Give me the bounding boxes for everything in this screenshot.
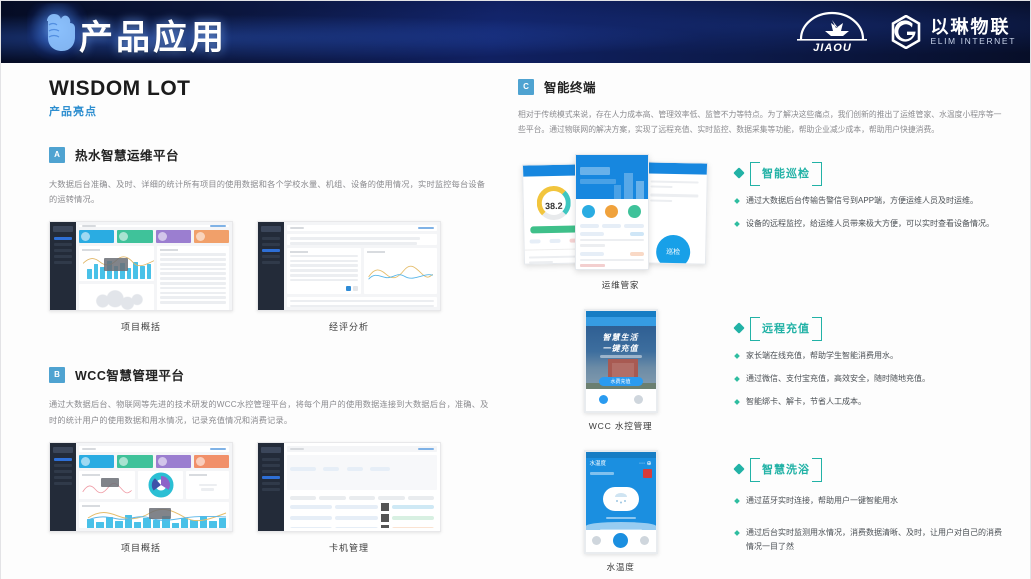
slide-body: WISDOM LOT 产品亮点 A 热水智慧运维平台 大数据后台准确、及时、详细… <box>1 63 1030 579</box>
app-screens-mock: 38.2 <box>523 154 719 272</box>
section-b-header: B WCC智慧管理平台 <box>49 365 492 384</box>
section-a-title: 热水智慧运维平台 <box>75 145 179 164</box>
jiaou-logo-label: JIAOU <box>813 42 852 54</box>
feature-3-bullets: 通过蓝牙实时连接，帮助用户一键智能用水 通过后台实时监测用水情况，消费数据清晰、… <box>735 494 1008 554</box>
section-c-desc: 相对于传统模式来说，存在人力成本高、管理效率低、监管不力等特点。为了解决这些痛点… <box>518 108 1008 138</box>
thumb-project-overview[interactable]: 项目概括 <box>49 221 233 333</box>
shower-head-icon <box>603 487 639 511</box>
feature-1-body: 智能巡检 通过大数据后台传输告警信号到APP端，方便运维人员及时运维。 设备的远… <box>723 154 1008 291</box>
dashboard-overview2-mock <box>49 442 233 532</box>
jiaou-logo: JIAOU <box>793 11 871 54</box>
tab-icon-home[interactable] <box>599 395 608 404</box>
shot-phone-recharge[interactable]: 智慧生活 一键充值 水费充值 WCC 水控管理 <box>518 309 723 432</box>
wisdom-lot-title: WISDOM LOT <box>49 77 492 101</box>
app-screen-inspection: 巡检 <box>639 161 707 264</box>
feature-2-title: 远程充值 <box>750 317 822 339</box>
dash-sidebar <box>258 443 284 531</box>
thumb-analysis[interactable]: 经评分析 <box>257 221 441 333</box>
section-c-title: 智能终端 <box>544 77 596 96</box>
phone-nav-bar <box>586 317 656 326</box>
phone-nav-actions[interactable]: ⋯ ⊕ <box>639 460 652 467</box>
shot-phone-shower[interactable]: 水温度 ⋯ ⊕ <box>518 450 723 573</box>
banner-icon <box>643 469 652 478</box>
diamond-icon <box>733 463 744 474</box>
feature-1-title: 智能巡检 <box>750 162 822 184</box>
bullet-item: 通过大数据后台传输告警信号到APP端，方便运维人员及时运维。 <box>735 194 1008 208</box>
feature-remote-recharge: 智慧生活 一键充值 水费充值 WCC 水控管理 <box>518 309 1008 432</box>
feature-1-bullets: 通过大数据后台传输告警信号到APP端，方便运维人员及时运维。 设备的远程监控，给… <box>735 194 1008 231</box>
inspection-button-mock: 巡检 <box>655 234 690 264</box>
fist-icon <box>27 3 87 63</box>
section-b-title: WCC智慧管理平台 <box>75 365 184 384</box>
phone-recharge-button[interactable]: 水费充值 <box>599 377 643 386</box>
right-column: C 智能终端 相对于传统模式来说，存在人力成本高、管理效率低、监管不力等特点。为… <box>510 77 1030 579</box>
diamond-icon <box>733 322 744 333</box>
section-b-desc: 通过大数据后台、物联网等先进的技术研发的WCC水控管理平台，将每个用户的使用数据… <box>49 397 492 427</box>
phone-tab-bar <box>586 389 656 411</box>
dashboard-table-mock <box>257 442 441 532</box>
phone-shower-mock: 水温度 ⋯ ⊕ <box>584 450 658 554</box>
feature-2-bullets: 家长端在线充值，帮助学生智能消费用水。 通过微信、支付宝充值，高效安全，随时随地… <box>735 349 1008 409</box>
elim-logo-en: ELIM INTERNET <box>930 37 1016 46</box>
dashboard-analysis-mock <box>257 221 441 311</box>
feature-smart-inspection: 38.2 <box>518 154 1008 291</box>
fist-icon-glyph <box>35 7 79 59</box>
tab-icon-mine[interactable] <box>640 536 649 545</box>
shot-caption: 水温度 <box>606 561 634 573</box>
thumb-caption: 经评分析 <box>257 320 441 333</box>
section-a-thumbs: 项目概括 <box>49 221 492 333</box>
tab-icon-mine[interactable] <box>634 395 643 404</box>
dashboard-overview-mock <box>49 221 233 311</box>
feature-smart-shower: 水温度 ⋯ ⊕ <box>518 450 1008 573</box>
thumb-caption: 卡机管理 <box>257 541 441 554</box>
diamond-icon <box>733 167 744 178</box>
shot-app-trio[interactable]: 38.2 <box>518 154 723 291</box>
dash-sidebar <box>50 222 76 310</box>
bullet-item: 设备的远程监控，给运维人员带来极大方便，可以实时查看设备情况。 <box>735 217 1008 231</box>
section-b-badge: B <box>49 367 65 383</box>
bullet-item: 通过蓝牙实时连接，帮助用户一键智能用水 <box>735 494 1008 508</box>
tab-icon-consume[interactable] <box>592 536 601 545</box>
shot-caption: 运维管家 <box>602 279 640 291</box>
dash-sidebar <box>258 222 284 310</box>
thumb-caption: 项目概括 <box>49 541 233 554</box>
section-a-desc: 大数据后台准确、及时、详细的统计所有项目的使用数据和各个学校水量、机组、设备的使… <box>49 177 492 207</box>
section-a-header: A 热水智慧运维平台 <box>49 145 492 164</box>
elim-logo: 以琳物联 ELIM INTERNET <box>889 15 1016 49</box>
page-header: 产品应用 JIAOU 以琳物联 ELIM INTERNET <box>1 1 1030 63</box>
phone-nav-title: 水温度 <box>590 459 607 467</box>
bullet-item: 智能绑卡、解卡，节省人工成本。 <box>735 395 1008 409</box>
bullet-item: 通过微信、支付宝充值，高效安全，随时随地充值。 <box>735 372 1008 386</box>
thumb-card-machine[interactable]: 卡机管理 <box>257 442 441 554</box>
phone-headline-1: 智慧生活 <box>603 332 639 343</box>
section-c-header: C 智能终端 <box>518 77 1008 96</box>
feature-2-body: 远程充值 家长端在线充值，帮助学生智能消费用水。 通过微信、支付宝充值，高效安全… <box>723 309 1008 432</box>
section-c-badge: C <box>518 79 534 95</box>
product-application-slide: 产品应用 JIAOU 以琳物联 ELIM INTERNET <box>0 0 1031 579</box>
thumb-project-overview-2[interactable]: 项目概括 <box>49 442 233 554</box>
section-a-badge: A <box>49 147 65 163</box>
app-screen-steward <box>575 154 649 270</box>
dash-sidebar <box>50 443 76 531</box>
bullet-item: 家长端在线充值，帮助学生智能消费用水。 <box>735 349 1008 363</box>
feature-3-title: 智慧洗浴 <box>750 458 822 480</box>
phone-headline-2: 一键充值 <box>603 343 639 354</box>
phone-tab-bar <box>586 530 656 552</box>
logo-group: JIAOU 以琳物联 ELIM INTERNET <box>793 1 1016 63</box>
bullet-item: 通过后台实时监测用水情况，消费数据清晰、及时，让用户对自己的消费情况一目了然 <box>735 526 1008 554</box>
thumb-caption: 项目概括 <box>49 320 233 333</box>
shot-caption: WCC 水控管理 <box>589 420 653 432</box>
donut-chart-icon <box>147 472 175 498</box>
elim-logo-cn: 以琳物联 <box>930 18 1016 37</box>
feature-3-body: 智慧洗浴 通过蓝牙实时连接，帮助用户一键智能用水 通过后台实时监测用水情况，消费… <box>723 450 1008 573</box>
elim-g-icon <box>889 15 923 49</box>
tab-icon-power[interactable] <box>613 533 628 548</box>
page-title: 产品应用 <box>79 10 227 59</box>
sunrise-arch-icon <box>795 11 869 45</box>
left-column: WISDOM LOT 产品亮点 A 热水智慧运维平台 大数据后台准确、及时、详细… <box>1 77 510 579</box>
phone-recharge-mock: 智慧生活 一键充值 水费充值 <box>584 309 658 413</box>
wisdom-lot-subtitle: 产品亮点 <box>49 103 492 119</box>
section-b-thumbs: 项目概括 <box>49 442 492 554</box>
